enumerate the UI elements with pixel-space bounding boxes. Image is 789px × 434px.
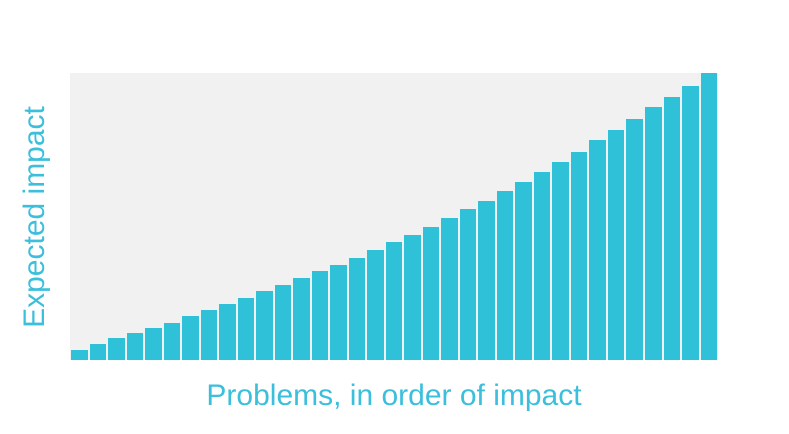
bar: [571, 152, 588, 360]
bar: [275, 285, 292, 360]
bar: [682, 86, 699, 360]
bar: [312, 271, 329, 360]
bar: [497, 191, 514, 360]
y-axis-label-container: Expected impact: [0, 73, 70, 360]
bar: [460, 209, 477, 360]
x-axis-label: Problems, in order of impact: [206, 381, 581, 411]
bar: [108, 338, 125, 360]
bar: [145, 328, 162, 360]
chart-figure: Expected impact Problems, in order of im…: [0, 0, 789, 434]
bar: [71, 350, 88, 360]
bar: [293, 278, 310, 360]
bar: [349, 258, 366, 360]
bar: [515, 182, 532, 360]
bar: [182, 316, 199, 360]
bar: [386, 242, 403, 360]
bar: [127, 333, 144, 360]
bar: [238, 298, 255, 360]
bar: [219, 304, 236, 360]
bar: [367, 250, 384, 360]
bar: [701, 73, 718, 360]
bar: [664, 97, 681, 360]
y-axis-label: Expected impact: [20, 106, 50, 328]
bar: [478, 201, 495, 360]
bar: [201, 310, 218, 360]
x-axis-label-container: Problems, in order of impact: [70, 368, 718, 424]
bar: [534, 172, 551, 360]
bar: [164, 323, 181, 360]
bar: [90, 344, 107, 360]
bar-series: [70, 73, 718, 360]
bar: [423, 227, 440, 360]
bar: [552, 162, 569, 360]
plot-area: [70, 73, 718, 360]
bar: [645, 107, 662, 360]
bar: [626, 119, 643, 360]
bar: [589, 140, 606, 360]
bar: [404, 235, 421, 360]
bar: [608, 130, 625, 360]
bar: [441, 218, 458, 360]
bar: [256, 291, 273, 360]
bar: [330, 265, 347, 360]
